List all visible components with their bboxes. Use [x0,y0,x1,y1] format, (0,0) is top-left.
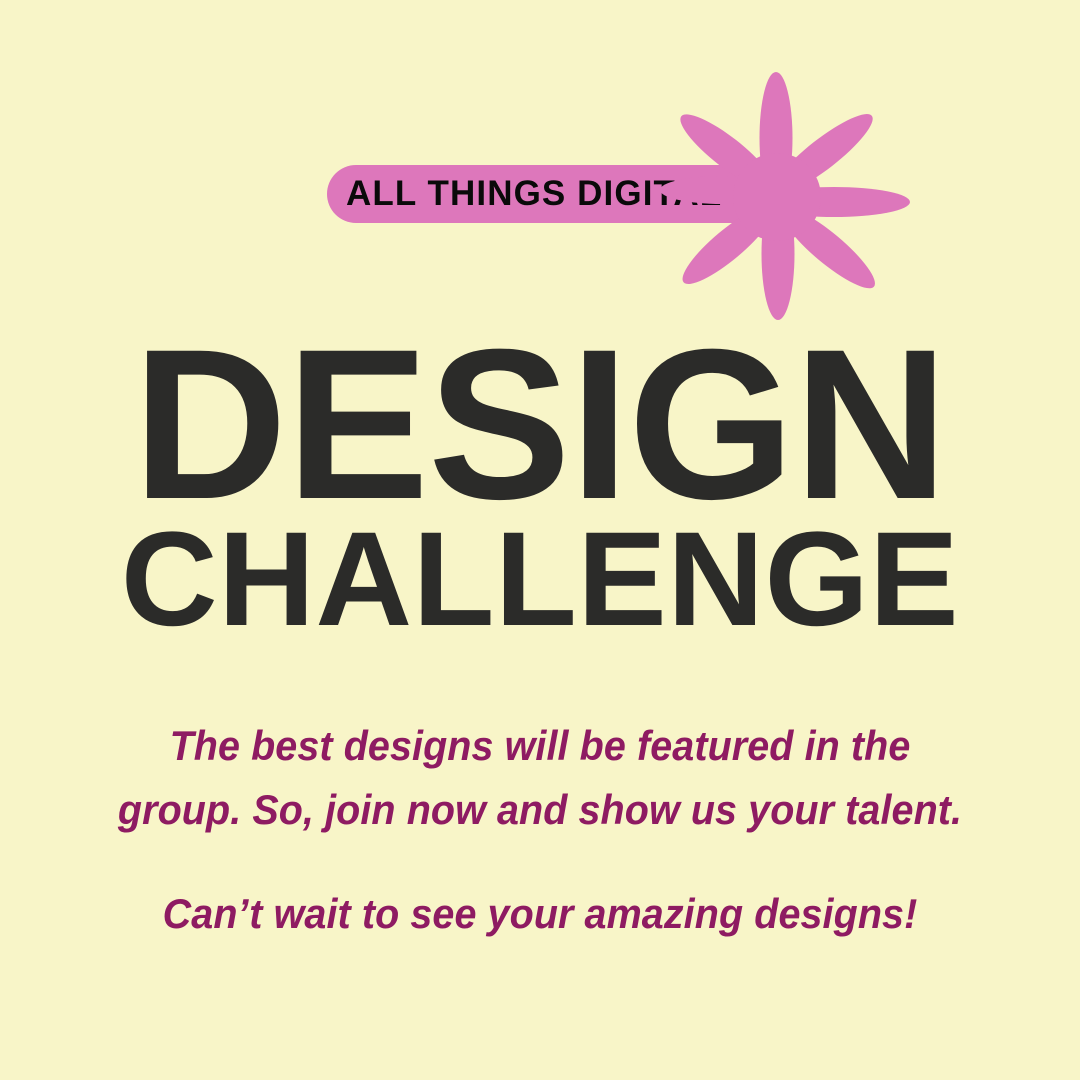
headline-line-1: DESIGN [0,318,1080,532]
headline-line-2: CHALLENGE [0,513,1080,647]
badge-label: ALL THINGS DIGITAL [346,176,722,211]
body-line-3: Can’t wait to see your amazing designs! [32,882,1047,946]
poster-canvas: ALL THINGS DIGITAL [0,0,1080,1080]
body-spacer [0,842,1080,882]
badge-group: ALL THINGS DIGITAL [0,0,1080,340]
body-copy-block: The best designs will be featured in the… [0,714,1080,946]
body-line-1: The best designs will be featured in the [32,714,1047,778]
body-line-2: group. So, join now and show us your tal… [32,778,1047,842]
badge-pill: ALL THINGS DIGITAL [327,165,792,223]
